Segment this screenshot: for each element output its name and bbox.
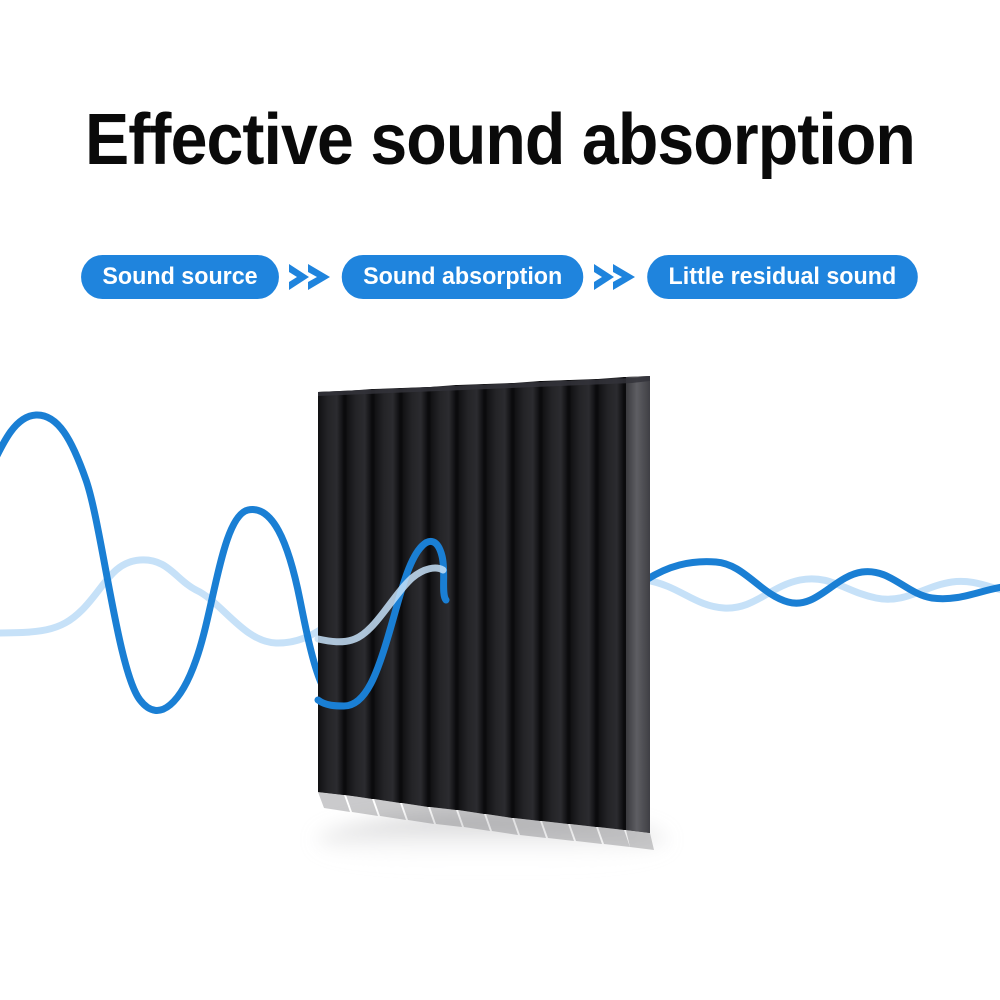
residual-wave-absorbed bbox=[318, 568, 443, 642]
sound-wave-group-front bbox=[0, 0, 1000, 1000]
promo-banner: Effective sound absorption Sound source … bbox=[0, 0, 1000, 1000]
